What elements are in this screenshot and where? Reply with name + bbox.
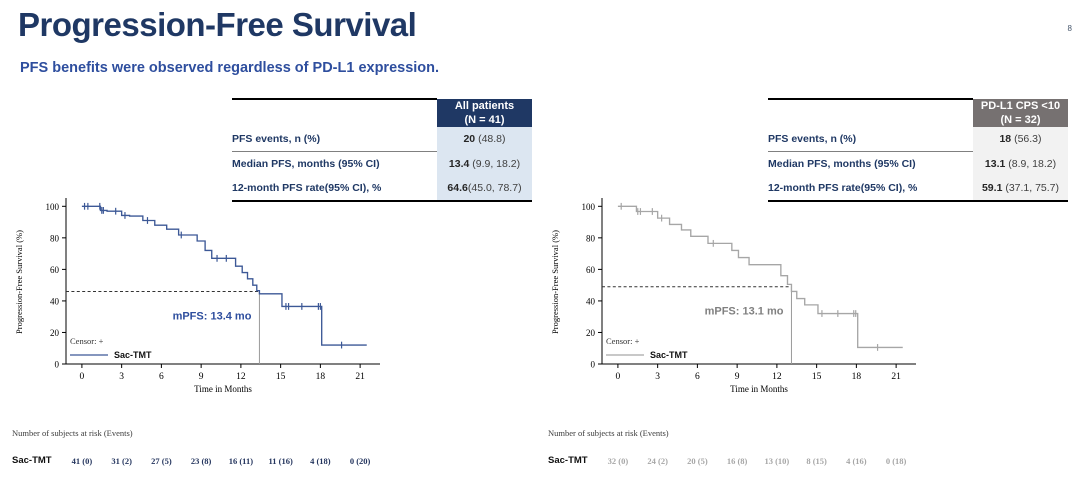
panel-pdl1-cps-lt10: PD-L1 CPS <10 (N = 32) PFS events, n (%)… [540,0,1080,485]
svg-text:3: 3 [119,372,124,382]
table-header-line2: (N = 41) [437,113,532,127]
svg-text:40: 40 [586,296,596,306]
row-label: PFS events, n (%) [768,127,973,152]
at-risk-series-label: Sac-TMT [548,455,588,466]
row-value-main: 18 [999,133,1011,145]
svg-text:100: 100 [46,202,60,212]
svg-text:80: 80 [50,233,60,243]
svg-text:21: 21 [891,372,901,382]
svg-text:100: 100 [582,202,596,212]
svg-text:40: 40 [50,296,60,306]
km-plot-svg: 020406080100036912151821Time in MonthsPr… [8,192,388,407]
at-risk-value: 27 (5) [141,456,181,466]
row-value-main: 59.1 [982,182,1002,194]
row-value-ci: (9.9, 18.2) [469,158,520,170]
row-label: PFS events, n (%) [232,127,437,152]
at-risk-value: 16 (11) [221,456,261,466]
row-value: 20 (48.8) [437,127,532,152]
km-chart-all-patients: 020406080100036912151821Time in MonthsPr… [8,192,388,407]
km-chart-pdl1-cps-lt10: 020406080100036912151821Time in MonthsPr… [544,192,924,407]
row-value-main: 64.6 [447,182,467,194]
table-header-blank [768,99,973,127]
svg-text:Censor: +: Censor: + [606,336,640,346]
row-value: 13.1 (8.9, 18.2) [973,152,1068,177]
svg-text:Sac-TMT: Sac-TMT [650,350,688,360]
slide-root: Progression-Free Survival PFS benefits w… [0,0,1080,485]
at-risk-value: 24 (2) [638,456,678,466]
svg-text:21: 21 [355,372,365,382]
at-risk-value: 8 (15) [797,456,837,466]
at-risk-value: 32 (0) [598,456,638,466]
at-risk-value: 23 (8) [181,456,221,466]
svg-text:6: 6 [159,372,164,382]
at-risk-caption: Number of subjects at risk (Events) [12,428,133,438]
svg-text:12: 12 [772,372,782,382]
svg-text:Time in Months: Time in Months [730,384,788,394]
svg-text:mPFS: 13.4 mo: mPFS: 13.4 mo [173,310,252,322]
table-header-row: PD-L1 CPS <10 (N = 32) [768,99,1068,127]
at-risk-value: 16 (8) [717,456,757,466]
at-risk-value: 0 (18) [876,456,916,466]
row-value: 13.4 (9.9, 18.2) [437,152,532,177]
svg-text:0: 0 [55,360,60,370]
row-value-main: 20 [463,133,475,145]
at-risk-value: 13 (10) [757,456,797,466]
table-row: Median PFS, months (95% CI) 13.4 (9.9, 1… [232,152,532,177]
row-value: 64.6(45.0, 78.7) [437,176,532,201]
svg-text:60: 60 [586,265,596,275]
svg-text:0: 0 [80,372,85,382]
svg-text:20: 20 [50,328,60,338]
at-risk-value: 41 (0) [62,456,102,466]
svg-text:15: 15 [812,372,822,382]
at-risk-value: 11 (16) [261,456,301,466]
row-label: Median PFS, months (95% CI) [232,152,437,177]
at-risk-value: 4 (18) [300,456,340,466]
svg-text:Progression-Free Survival (%): Progression-Free Survival (%) [550,230,560,334]
row-value-main: 13.1 [985,158,1005,170]
row-value-ci: (8.9, 18.2) [1005,158,1056,170]
svg-text:9: 9 [199,372,204,382]
svg-text:Time in Months: Time in Months [194,384,252,394]
at-risk-value: 4 (16) [836,456,876,466]
summary-table-pdl1-cps-lt10: PD-L1 CPS <10 (N = 32) PFS events, n (%)… [768,98,1068,202]
table-row: Median PFS, months (95% CI) 13.1 (8.9, 1… [768,152,1068,177]
table-row: PFS events, n (%) 20 (48.8) [232,127,532,152]
row-value-main: 13.4 [449,158,469,170]
panel-all-patients: All patients (N = 41) PFS events, n (%) … [0,0,540,485]
row-value-ci: (37.1, 75.7) [1002,182,1059,194]
row-value-ci: (48.8) [475,133,505,145]
table-header-line1: PD-L1 CPS <10 [973,99,1068,113]
row-value: 18 (56.3) [973,127,1068,152]
table-header-group: PD-L1 CPS <10 (N = 32) [973,99,1068,127]
svg-text:6: 6 [695,372,700,382]
svg-text:12: 12 [236,372,246,382]
svg-text:20: 20 [586,328,596,338]
table-row: PFS events, n (%) 18 (56.3) [768,127,1068,152]
svg-text:18: 18 [316,372,326,382]
at-risk-caption: Number of subjects at risk (Events) [548,428,669,438]
svg-text:18: 18 [852,372,862,382]
table-header-group: All patients (N = 41) [437,99,532,127]
at-risk-series-label: Sac-TMT [12,455,52,466]
at-risk-value: 31 (2) [102,456,142,466]
row-value-ci: (45.0, 78.7) [468,182,522,194]
table-header-line2: (N = 32) [973,113,1068,127]
svg-text:Censor: +: Censor: + [70,336,104,346]
summary-table-all-patients: All patients (N = 41) PFS events, n (%) … [232,98,532,202]
svg-text:9: 9 [735,372,740,382]
row-label: Median PFS, months (95% CI) [768,152,973,177]
svg-text:mPFS: 13.1 mo: mPFS: 13.1 mo [705,306,784,318]
svg-text:15: 15 [276,372,286,382]
at-risk-value: 20 (5) [677,456,717,466]
svg-text:Progression-Free Survival (%): Progression-Free Survival (%) [14,230,24,334]
table-header-line1: All patients [437,99,532,113]
row-value: 59.1 (37.1, 75.7) [973,176,1068,201]
svg-text:0: 0 [616,372,621,382]
km-plot-svg: 020406080100036912151821Time in MonthsPr… [544,192,924,407]
svg-text:80: 80 [586,233,596,243]
svg-text:Sac-TMT: Sac-TMT [114,350,152,360]
row-value-ci: (56.3) [1011,133,1041,145]
table-header-row: All patients (N = 41) [232,99,532,127]
svg-text:0: 0 [591,360,596,370]
svg-text:60: 60 [50,265,60,275]
at-risk-value: 0 (20) [340,456,380,466]
table-header-blank [232,99,437,127]
svg-text:3: 3 [655,372,660,382]
